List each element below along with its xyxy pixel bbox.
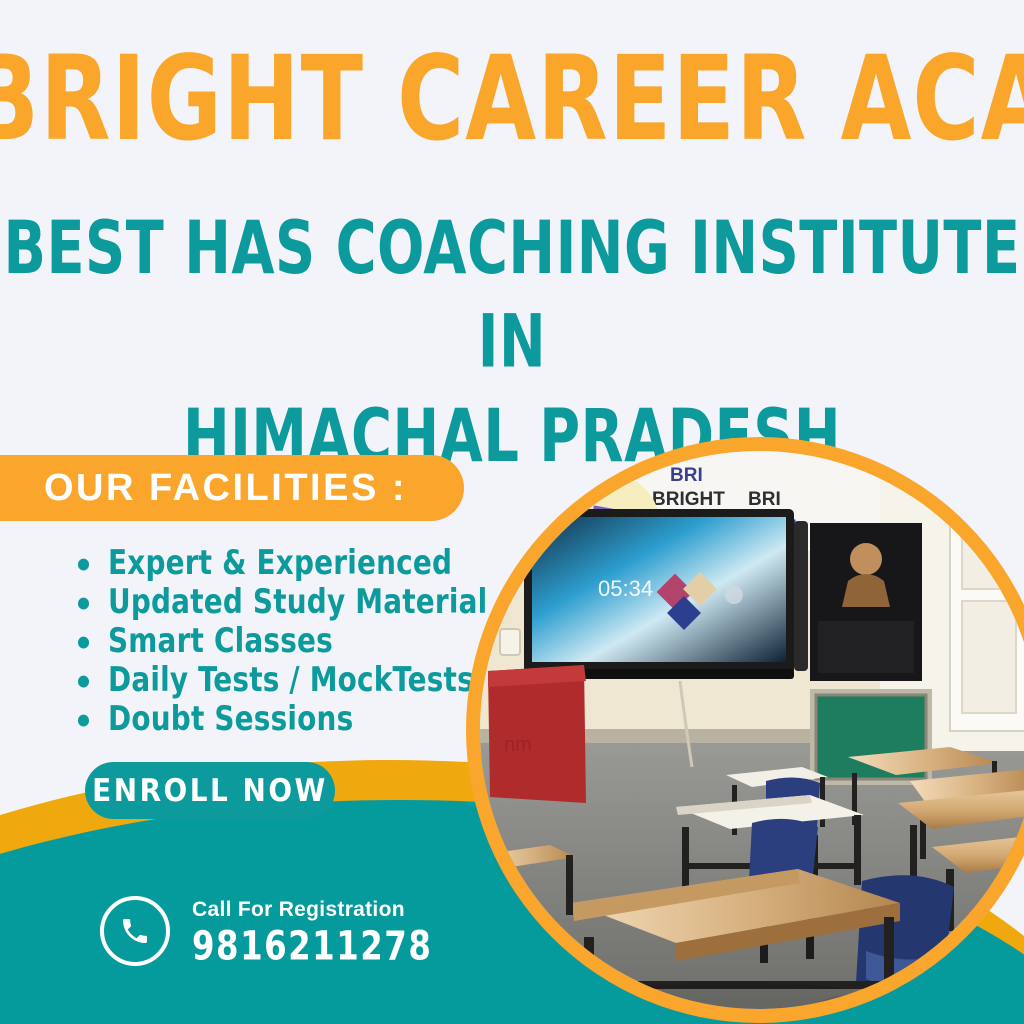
svg-text:BRI: BRI: [748, 489, 781, 510]
page-subtitle: BEST HAS COACHING INSTITUTE IN HIMACHAL …: [0, 128, 1024, 482]
facilities-banner: OUR FACILITIES :: [0, 455, 464, 521]
contact-phone-number[interactable]: 9816211278: [192, 927, 432, 967]
svg-text:BRIGHT: BRIGHT: [652, 489, 725, 510]
enroll-now-button[interactable]: ENROLL NOW: [85, 762, 335, 819]
headline-block: BRIGHT CAREER ACADEMY BEST HAS COACHING …: [0, 0, 1024, 428]
facilities-heading: OUR FACILITIES :: [0, 467, 407, 510]
classroom-illustration: BRI BRIGHT BRI SSC BRI BRI N.T. 05:34: [480, 451, 1024, 1009]
svg-text:05:34: 05:34: [598, 576, 653, 601]
contact-text: Call For Registration 9816211278: [192, 899, 432, 963]
list-item: Smart Classes: [72, 620, 487, 662]
poster-canvas: BRIGHT CAREER ACADEMY BEST HAS COACHING …: [0, 0, 1024, 1024]
list-item: Doubt Sessions: [72, 698, 487, 740]
list-item: Daily Tests / MockTests: [72, 659, 487, 701]
contact-block[interactable]: Call For Registration 9816211278: [100, 896, 432, 966]
phone-icon: [100, 896, 170, 966]
svg-text:BRI: BRI: [670, 465, 703, 486]
svg-text:nm: nm: [504, 734, 532, 756]
facilities-list: Expert & Experienced Updated Study Mater…: [72, 544, 487, 739]
subtitle-line-1: BEST HAS COACHING INSTITUTE IN: [0, 201, 1024, 388]
classroom-photo: BRI BRIGHT BRI SSC BRI BRI N.T. 05:34: [480, 451, 1024, 1009]
list-item: Expert & Experienced: [72, 542, 487, 584]
list-item: Updated Study Material: [72, 581, 487, 623]
contact-label: Call For Registration: [192, 899, 432, 920]
classroom-photo-ring: BRI BRIGHT BRI SSC BRI BRI N.T. 05:34: [466, 437, 1024, 1023]
